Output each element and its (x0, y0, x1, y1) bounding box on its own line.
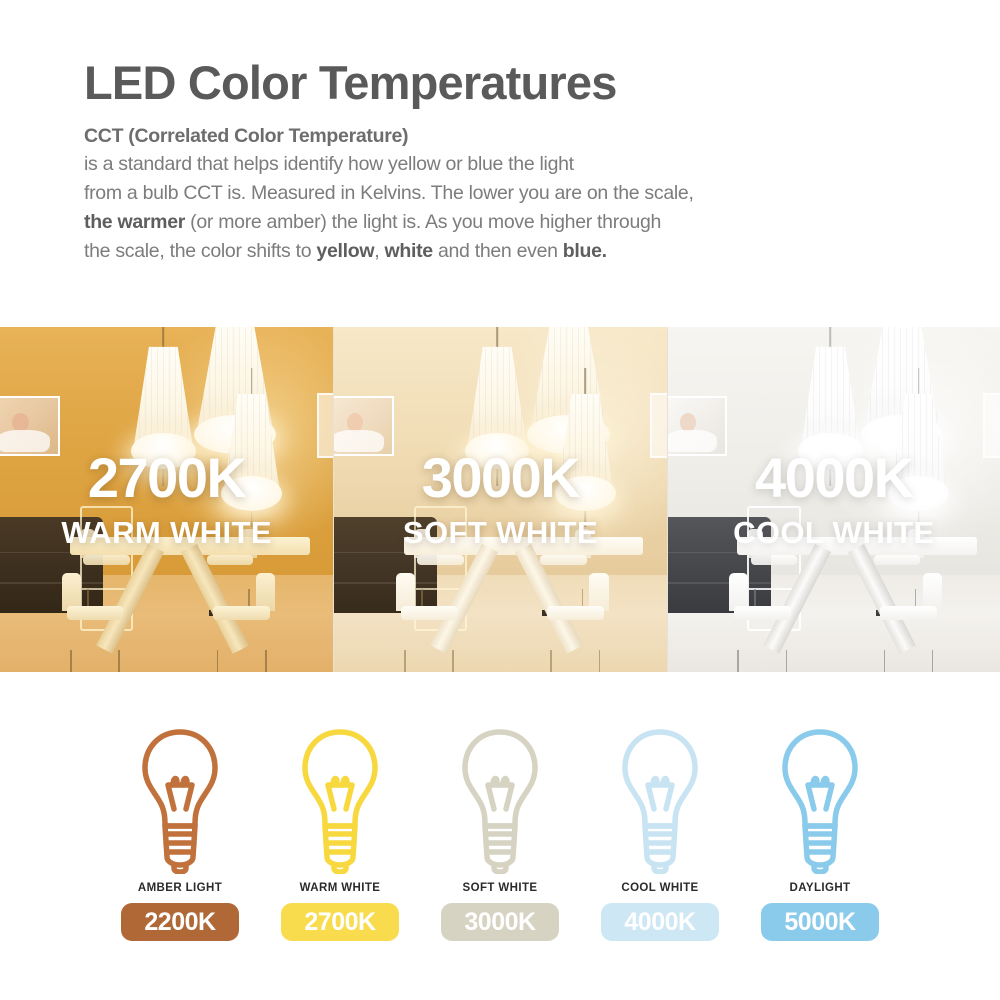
framed-baby-picture (667, 396, 728, 456)
lamp-diffuser (798, 433, 863, 469)
framed-baby-picture (333, 396, 394, 456)
chair-seat (417, 555, 464, 565)
lamp-diffuser (465, 433, 530, 469)
lamp-diffuser (131, 433, 196, 469)
paragraph-line-4-tail: and then even (433, 240, 563, 262)
baby-head (347, 413, 364, 432)
baby-head (680, 413, 697, 432)
lamp-diffuser (221, 476, 282, 511)
blue-emphasis: blue. (563, 240, 607, 262)
dining-chair-front-right (547, 606, 603, 651)
bulb-item-daylight[interactable]: DAYLIGHT 5000K (760, 726, 880, 941)
dining-chair-front-left (734, 606, 790, 651)
dining-chair-front-left (401, 606, 457, 651)
chair-seat (83, 555, 130, 565)
pendant-lamp-right (223, 368, 280, 527)
pendant-lamp-right (557, 368, 613, 527)
light-bulb-icon (617, 726, 703, 874)
framed-picture-right (983, 393, 1000, 459)
bulb-label: COOL WHITE (621, 882, 698, 894)
chair-seat (540, 555, 587, 565)
room-panel-3000k: 3000K SOFT WHITE (333, 327, 666, 672)
chair-leg (452, 650, 454, 672)
chair-leg (118, 650, 120, 672)
chair-leg (884, 650, 886, 672)
dining-chair-front-right (880, 606, 936, 651)
chair-seat (67, 606, 124, 619)
chair-leg (550, 650, 552, 672)
chair-seat (547, 606, 603, 619)
cct-subtitle: CCT (Correlated Color Temperature) (84, 125, 1000, 148)
framed-picture-right (650, 393, 667, 459)
dining-chair-front-right (213, 606, 270, 651)
chair-seat (874, 555, 921, 565)
room-panel-2700k: 2700K WARM WHITE (0, 327, 333, 672)
chair-seat (880, 606, 936, 619)
chair-back (256, 573, 275, 611)
pendant-lamp-left (133, 327, 193, 486)
baby-blanket (667, 430, 718, 453)
light-bulb-icon (137, 726, 223, 874)
light-bulb-icon (457, 726, 543, 874)
chair-back (923, 573, 942, 611)
lamp-diffuser (888, 476, 949, 511)
bulb-label: DAYLIGHT (790, 882, 851, 894)
dining-chair-back-left (83, 555, 130, 590)
baby-blanket (333, 430, 384, 453)
bulb-item-warm-white[interactable]: WARM WHITE 2700K (280, 726, 400, 941)
baby-head (12, 413, 29, 432)
dining-chair-back-left (417, 555, 464, 590)
chair-leg (265, 650, 267, 672)
light-bulb-icon (777, 726, 863, 874)
bulb-label: WARM WHITE (300, 882, 381, 894)
warmer-emphasis: the warmer (84, 211, 185, 233)
lamp-diffuser (555, 476, 616, 511)
chair-seat (734, 606, 790, 619)
bulb-item-cool-white[interactable]: COOL WHITE 4000K (600, 726, 720, 941)
chair-seat (213, 606, 270, 619)
pendant-lamp-left (801, 327, 861, 486)
chair-leg (786, 650, 788, 672)
chair-leg (404, 650, 406, 672)
comma-sep: , (374, 240, 384, 262)
white-emphasis: white (384, 240, 432, 262)
light-bulb-icon (297, 726, 383, 874)
room-comparison-strip: 2700K WARM WHITE (0, 327, 1000, 672)
bulb-label: AMBER LIGHT (138, 882, 222, 894)
chair-back (729, 573, 748, 611)
framed-picture-right (317, 393, 334, 459)
bulb-item-soft-white[interactable]: SOFT WHITE 3000K (440, 726, 560, 941)
chair-leg (737, 650, 739, 672)
yellow-emphasis: yellow (316, 240, 374, 262)
dining-chair-back-left (751, 555, 798, 590)
page-title: LED Color Temperatures (84, 58, 1000, 108)
bulb-item-amber-light[interactable]: AMBER LIGHT 2200K (120, 726, 240, 941)
chair-seat (207, 555, 254, 565)
paragraph-line-1: is a standard that helps identify how ye… (84, 153, 574, 175)
chair-seat (401, 606, 457, 619)
pendant-lamp-right (890, 368, 946, 527)
chair-leg (599, 650, 601, 672)
chair-leg (70, 650, 72, 672)
room-panel-4000k: 4000K COOL WHITE (667, 327, 1000, 672)
pendant-lamp-left (467, 327, 527, 486)
chair-leg (217, 650, 219, 672)
chair-back (589, 573, 608, 611)
kelvin-badge[interactable]: 3000K (441, 903, 559, 941)
chair-back (396, 573, 415, 611)
bulb-label: SOFT WHITE (463, 882, 538, 894)
chair-seat (751, 555, 798, 565)
kelvin-badge[interactable]: 5000K (761, 903, 879, 941)
description-paragraph: is a standard that helps identify how ye… (84, 150, 1000, 266)
chair-back (62, 573, 81, 611)
baby-blanket (0, 430, 50, 453)
kelvin-badge[interactable]: 4000K (601, 903, 719, 941)
paragraph-line-4-start: the scale, the color shifts to (84, 240, 311, 262)
paragraph-line-3-rest: (or more amber) the light is. As you mov… (185, 211, 661, 233)
dining-chair-front-left (67, 606, 124, 651)
bulb-temperature-scale: AMBER LIGHT 2200K WARM WHITE 2700K (0, 726, 1000, 941)
framed-baby-picture (0, 396, 60, 456)
paragraph-line-2: from a bulb CCT is. Measured in Kelvins.… (84, 182, 694, 204)
header-section: LED Color Temperatures CCT (Correlated C… (0, 0, 1000, 266)
kelvin-badge[interactable]: 2700K (281, 903, 399, 941)
chair-leg (932, 650, 934, 672)
kelvin-badge[interactable]: 2200K (121, 903, 239, 941)
